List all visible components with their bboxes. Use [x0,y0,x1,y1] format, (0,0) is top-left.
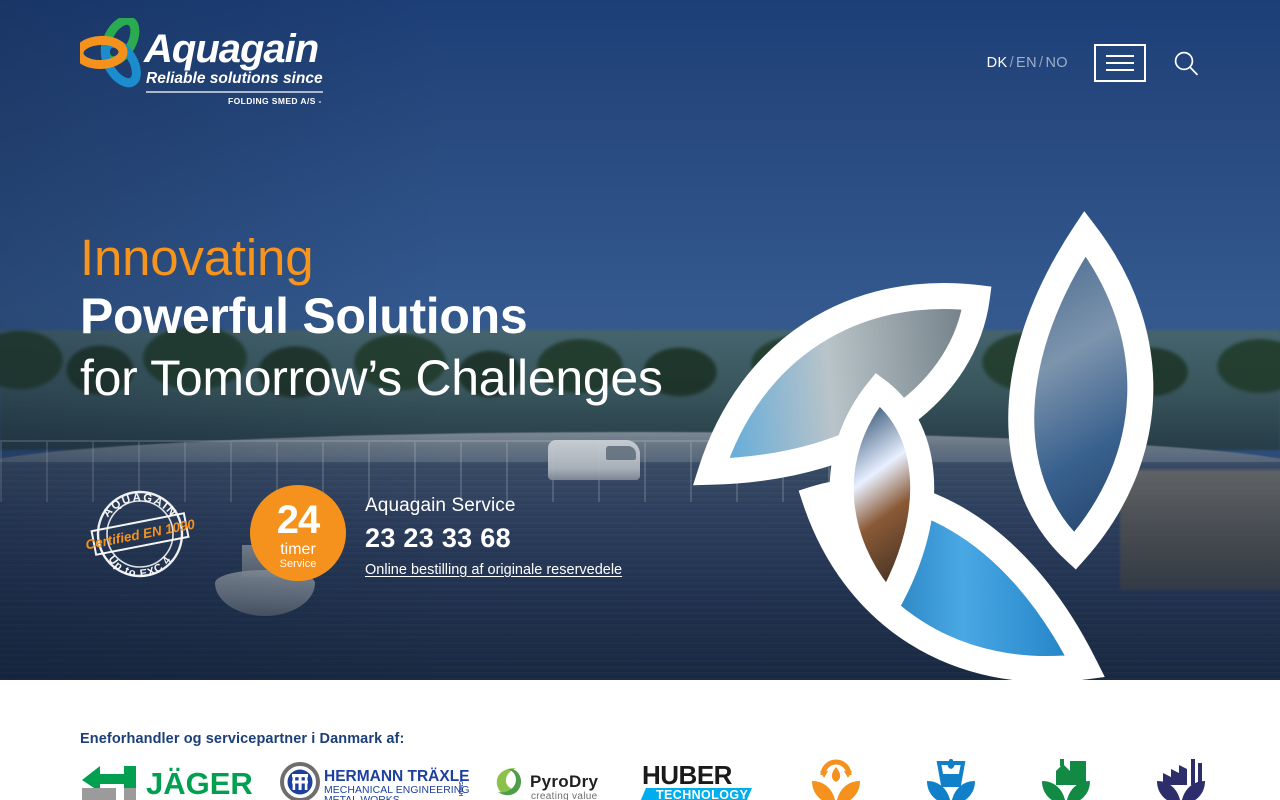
aquagain-logo-watermark [620,150,1280,680]
service-contact-block: 24 timer Service Aquagain Service 23 23 … [250,485,950,585]
biogas-leaf-icon [810,759,862,800]
huber-subtitle: TECHNOLOGY [656,788,748,800]
hero-headline: Innovating Powerful Solutions for Tomorr… [80,232,663,408]
hamburger-line-3 [1106,69,1134,71]
language-switcher[interactable]: DK/EN/NO [987,55,1068,71]
hamburger-menu-icon[interactable] [1094,44,1146,82]
partner-logo-jager[interactable]: JÄGER [80,762,260,800]
traxler-subtitle-2: METAL WORKS [324,795,400,800]
huber-wordmark: HUBER [642,762,733,790]
partner-logo-huber[interactable]: HUBER TECHNOLOGY [640,762,752,800]
service-title: Aquagain Service [365,495,622,517]
partners-section: Eneforhandler og servicepartner i Danmar… [0,680,1280,800]
lang-separator-1: / [1010,55,1014,71]
hero-banner: Aquagain Reliable solutions since 1956 F… [0,0,1280,680]
factory-leaf-icon [1155,759,1207,800]
aquagain-logo[interactable]: Aquagain Reliable solutions since 1956 F… [80,18,325,108]
badge-hours-label: timer [280,542,316,558]
traxler-wordmark: HERMANN TRÄXLER [324,768,470,785]
badge-number: 24 [277,500,320,540]
partner-logo-hermann-traxler[interactable]: HERMANN TRÄXLER GMBH MECHANICAL ENGINEER… [280,762,470,800]
badge-service-label: Service [280,559,317,570]
headline-line-1: Innovating [80,232,663,284]
hamburger-line-2 [1106,62,1134,64]
water-leaf-icon [925,759,977,800]
pyrodry-wordmark: PyroDry [530,772,598,791]
jager-wordmark: JÄGER [146,766,253,800]
top-navigation-bar: Aquagain Reliable solutions since 1956 F… [0,0,1280,125]
sector-icon-group [810,759,1207,800]
page-root: Aquagain Reliable solutions since 1956 F… [0,0,1280,800]
spare-parts-order-link[interactable]: Online bestilling af originale reservede… [365,562,622,578]
industry-leaf-icon [1040,759,1092,800]
lang-separator-2: / [1039,55,1043,71]
certification-stamp: AQUAGAIN Up to EXC 4 Certified EN 1090 [85,482,195,588]
lang-dk[interactable]: DK [987,55,1008,71]
svg-text:Reliable solutions since 1956: Reliable solutions since 1956 [146,70,325,87]
search-icon[interactable] [1172,49,1200,77]
service-phone[interactable]: 23 23 33 68 [365,523,622,554]
partner-logo-row: JÄGER HERMANN TRÄXLER GMBH MECHANICAL EN… [80,762,1200,800]
svg-text:FOLDING SMED A/S - DENMARK: FOLDING SMED A/S - DENMARK [228,96,325,106]
lang-en[interactable]: EN [1016,55,1037,71]
headline-line-3: for Tomorrow’s Challenges [80,348,663,408]
service-24h-badge: 24 timer Service [250,485,346,581]
headline-line-2: Powerful Solutions [80,284,663,348]
lang-no[interactable]: NO [1045,55,1068,71]
partner-logo-pyrodry[interactable]: PyroDry creating value [490,762,620,800]
top-nav-actions: DK/EN/NO [987,44,1200,82]
hamburger-line-1 [1106,55,1134,57]
partners-heading: Eneforhandler og servicepartner i Danmar… [80,731,404,747]
service-details: Aquagain Service 23 23 33 68 Online best… [365,495,622,579]
svg-text:Aquagain: Aquagain [143,27,318,71]
pyrodry-subtitle: creating value [531,791,598,800]
